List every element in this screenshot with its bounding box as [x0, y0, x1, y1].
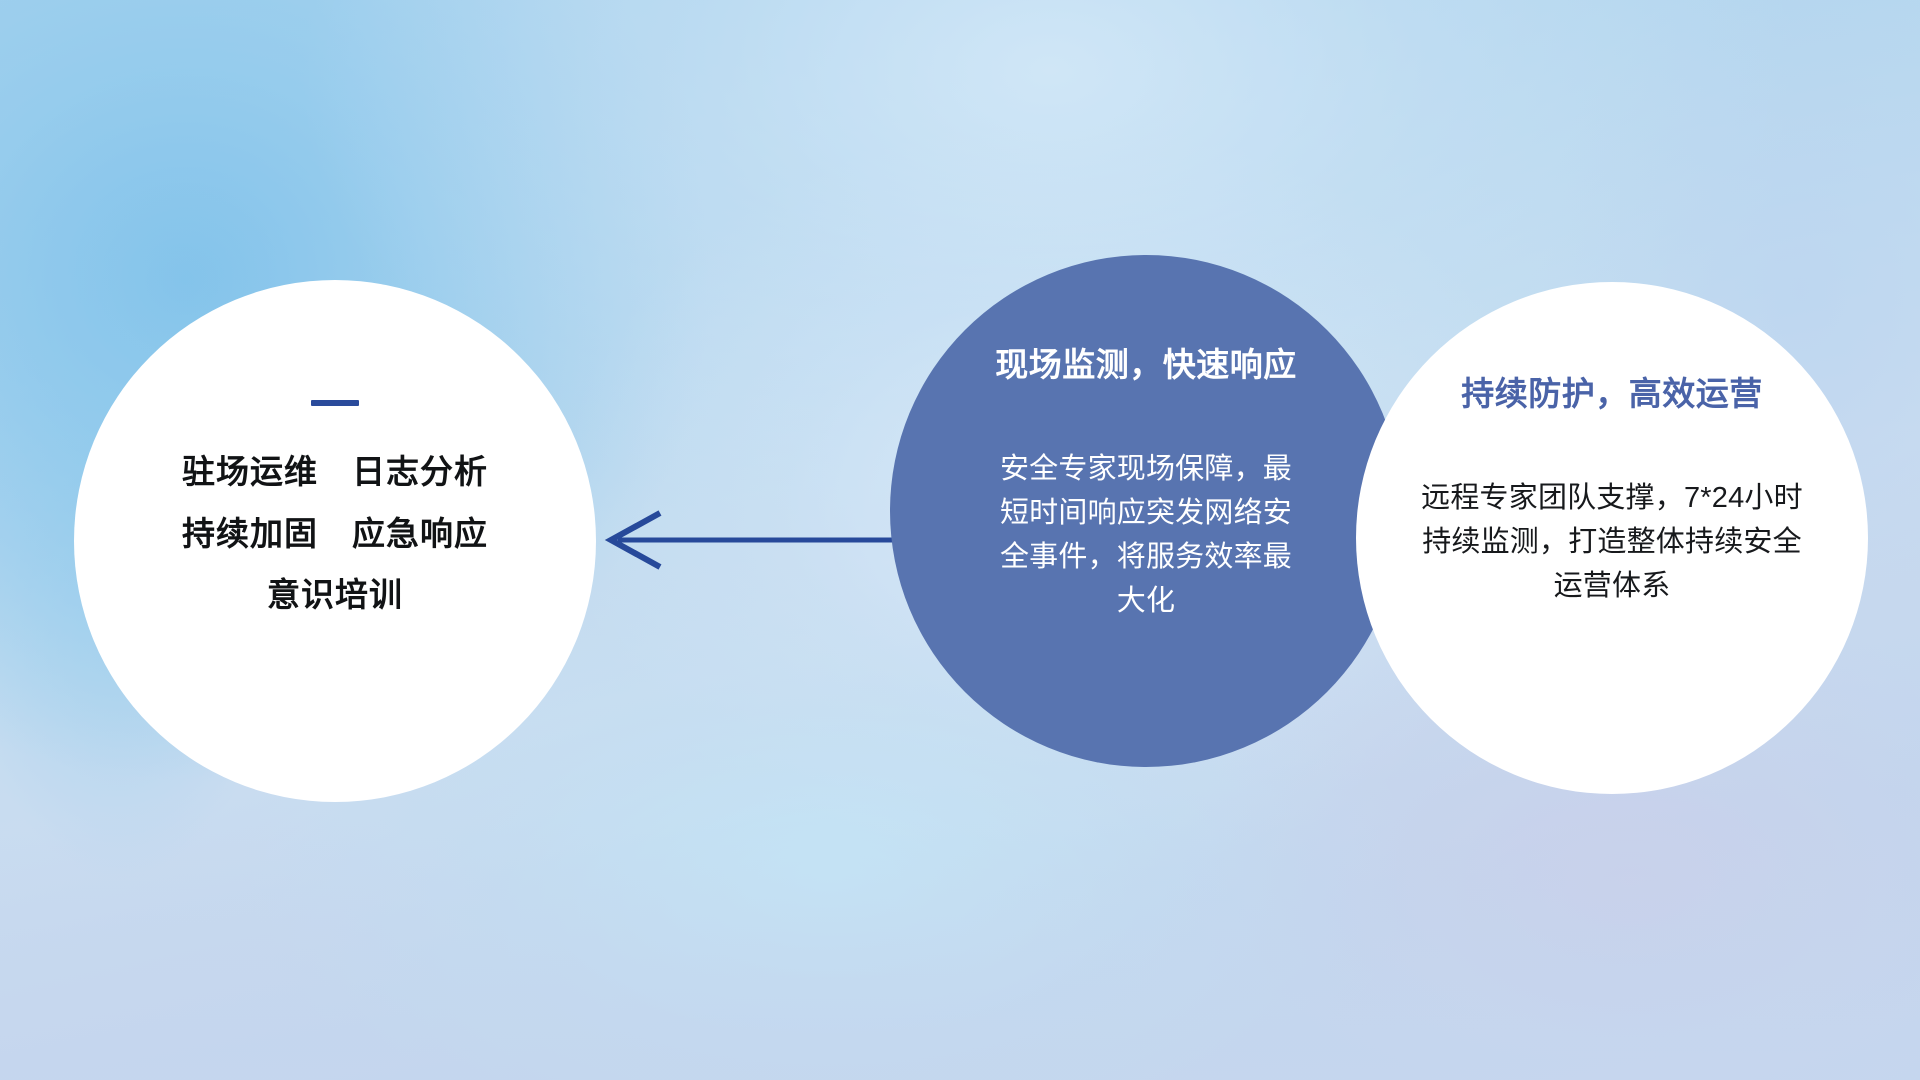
circle-title: 持续防护，高效运营	[1461, 374, 1763, 414]
circle-body-text: 远程专家团队支撑，7*24小时持续监测，打造整体持续安全运营体系	[1421, 476, 1803, 608]
keyword-row: 意识培训	[74, 577, 596, 613]
capabilities-circle[interactable]: 驻场运维 日志分析 持续加固 应急响应 意识培训	[74, 280, 596, 802]
continuous-protection-circle[interactable]: 持续防护，高效运营 远程专家团队支撑，7*24小时持续监测，打造整体持续安全运营…	[1356, 282, 1868, 794]
keyword-row: 驻场运维 日志分析	[74, 454, 596, 490]
keyword-item: 应急响应	[352, 516, 488, 552]
capability-keyword-list: 驻场运维 日志分析 持续加固 应急响应 意识培训	[74, 454, 596, 613]
keyword-item: 日志分析	[352, 454, 488, 490]
divider-dash-icon	[311, 400, 359, 406]
keyword-item: 意识培训	[267, 577, 403, 613]
circle-body-text: 安全专家现场保障，最短时间响应突发网络安全事件，将服务效率最大化	[987, 447, 1305, 623]
keyword-item: 驻场运维	[182, 454, 318, 490]
keyword-item: 持续加固	[182, 516, 318, 552]
slide-canvas: 驻场运维 日志分析 持续加固 应急响应 意识培训 现场监测，快速响应 安全专家现…	[0, 0, 1920, 1080]
onsite-monitoring-circle[interactable]: 现场监测，快速响应 安全专家现场保障，最短时间响应突发网络安全事件，将服务效率最…	[890, 255, 1402, 767]
circle-title: 现场监测，快速响应	[995, 345, 1297, 385]
keyword-row: 持续加固 应急响应	[74, 516, 596, 552]
